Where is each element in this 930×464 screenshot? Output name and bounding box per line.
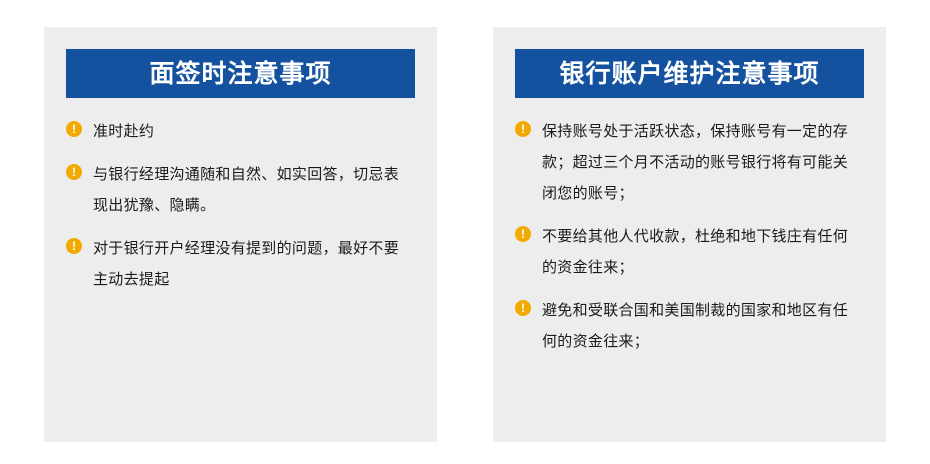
list-item: ! 不要给其他人代收款，杜绝和地下钱庄有任何的资金往来； — [515, 221, 862, 283]
card-header-interview: 面签时注意事项 — [66, 49, 415, 98]
card-header-account: 银行账户维护注意事项 — [515, 49, 864, 98]
exclamation-icon: ! — [66, 164, 82, 180]
list-item-text: 准时赴约 — [93, 116, 154, 147]
list-item: ! 对于银行开户经理没有提到的问题，最好不要主动去提起 — [66, 233, 413, 295]
card-title-interview: 面签时注意事项 — [149, 61, 331, 86]
exclamation-icon: ! — [515, 300, 531, 316]
list-item: ! 保持账号处于活跃状态，保持账号有一定的存款；超过三个月不活动的账号银行将有可… — [515, 116, 862, 209]
exclamation-icon: ! — [515, 226, 531, 242]
notice-cards-page: 面签时注意事项 ! 准时赴约 ! 与银行经理沟通随和自然、如实回答，切忌表现出犹… — [0, 0, 930, 464]
list-item-text: 对于银行开户经理没有提到的问题，最好不要主动去提起 — [93, 233, 413, 295]
exclamation-icon: ! — [515, 121, 531, 137]
card-title-account: 银行账户维护注意事项 — [559, 61, 819, 86]
card-interview-notes: 面签时注意事项 ! 准时赴约 ! 与银行经理沟通随和自然、如实回答，切忌表现出犹… — [44, 27, 437, 442]
list-item-text: 与银行经理沟通随和自然、如实回答，切忌表现出犹豫、隐瞒。 — [93, 159, 413, 221]
card-body-account: ! 保持账号处于活跃状态，保持账号有一定的存款；超过三个月不活动的账号银行将有可… — [493, 98, 886, 357]
exclamation-icon: ! — [66, 238, 82, 254]
card-body-interview: ! 准时赴约 ! 与银行经理沟通随和自然、如实回答，切忌表现出犹豫、隐瞒。 ! … — [44, 98, 437, 295]
card-account-maintenance: 银行账户维护注意事项 ! 保持账号处于活跃状态，保持账号有一定的存款；超过三个月… — [493, 27, 886, 442]
list-item: ! 准时赴约 — [66, 116, 413, 147]
list-item: ! 与银行经理沟通随和自然、如实回答，切忌表现出犹豫、隐瞒。 — [66, 159, 413, 221]
list-item-text: 不要给其他人代收款，杜绝和地下钱庄有任何的资金往来； — [542, 221, 860, 283]
exclamation-icon: ! — [66, 121, 82, 137]
list-item-text: 保持账号处于活跃状态，保持账号有一定的存款；超过三个月不活动的账号银行将有可能关… — [542, 116, 860, 209]
list-item: ! 避免和受联合国和美国制裁的国家和地区有任何的资金往来； — [515, 295, 862, 357]
list-item-text: 避免和受联合国和美国制裁的国家和地区有任何的资金往来； — [542, 295, 860, 357]
